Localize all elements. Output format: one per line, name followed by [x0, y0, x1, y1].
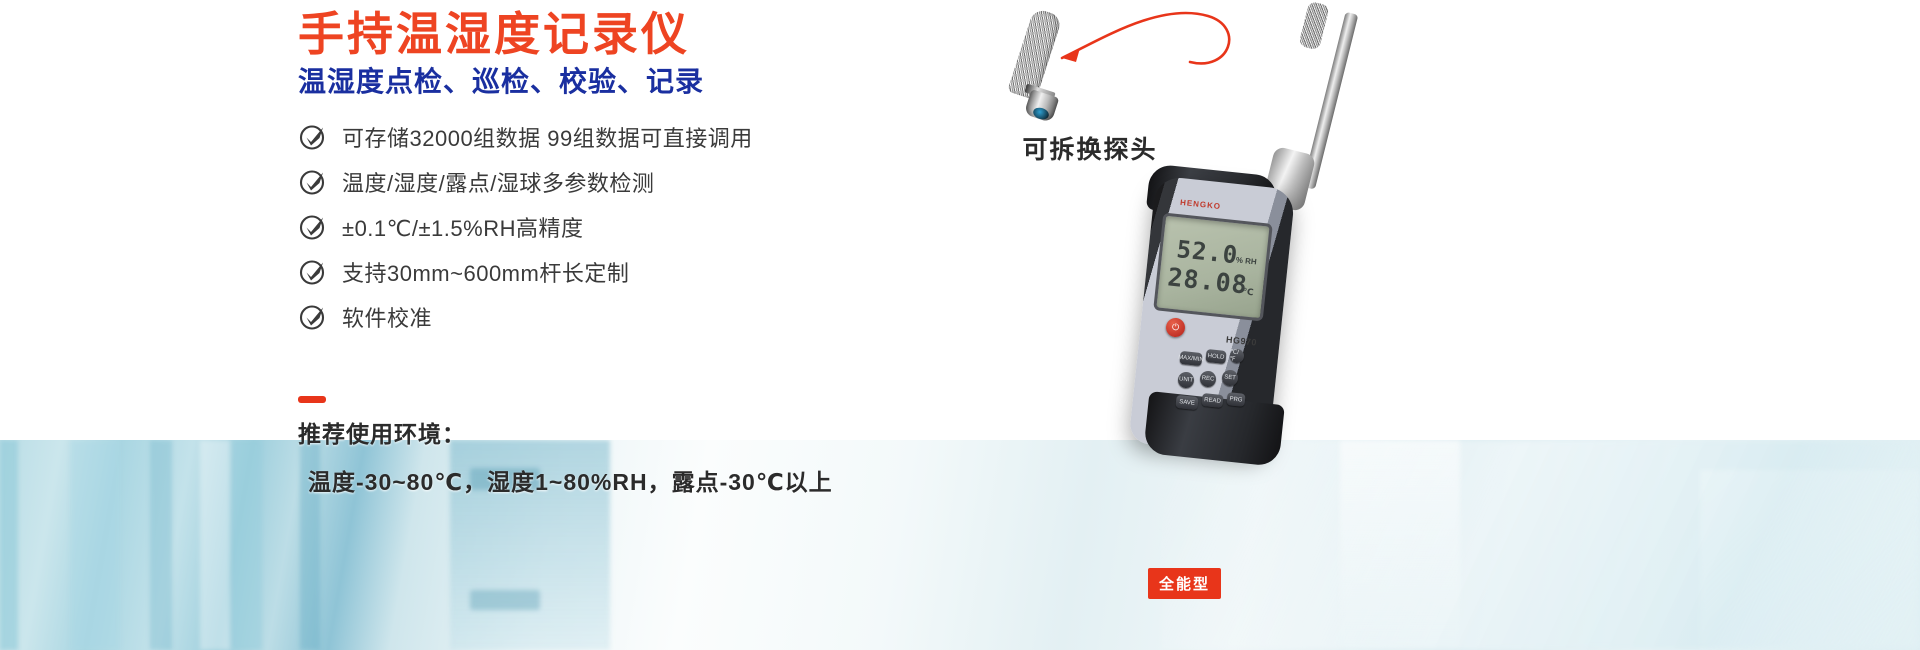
page-subtitle: 温湿度点检、巡检、校验、记录	[298, 65, 1018, 99]
feature-label: 可存储32000组数据 99组数据可直接调用	[342, 121, 753, 153]
feature-label: 温度/湿度/露点/湿球多参数检测	[342, 166, 654, 198]
lcd-screen: 52.0 % RH 28.08 ℃	[1153, 213, 1273, 322]
list-item: 软件校准	[298, 294, 1018, 339]
environment-text-block: 推荐使用环境： 温度-30~80℃，湿度1~80%RH，露点-30℃以上	[298, 415, 833, 497]
feature-label: ±0.1℃/±1.5%RH高精度	[342, 211, 583, 243]
red-dash-marker	[298, 396, 326, 403]
lcd-humidity-unit: % RH	[1235, 255, 1257, 266]
feature-list: 可存储32000组数据 99组数据可直接调用 温度/湿度/露点/湿球多参数检测	[298, 114, 1018, 339]
lcd-temperature-unit: ℃	[1242, 286, 1254, 298]
list-item: ±0.1℃/±1.5%RH高精度	[298, 204, 1018, 249]
product-banner: 手持温湿度记录仪 温湿度点检、巡检、校验、记录 可存储32000组数据 99组数…	[0, 0, 1920, 650]
device-key-hold[interactable]: HOLD	[1205, 349, 1226, 364]
environment-title: 推荐使用环境：	[298, 415, 833, 449]
circle-check-icon	[298, 212, 328, 242]
device-key-save[interactable]: SAVE	[1175, 395, 1198, 410]
device-key-read[interactable]: READ	[1201, 393, 1223, 408]
background-glass-pane	[1700, 470, 1920, 650]
circle-check-icon	[298, 167, 328, 197]
sensor-rod-tip	[1298, 1, 1330, 51]
handheld-meter-image: HENGKO 52.0 % RH 28.08 ℃ ⏻ HG970 MAX/MIN…	[1030, 0, 1410, 640]
background-glass-pane	[200, 440, 230, 650]
background-glass-pane	[470, 590, 540, 610]
page-title: 手持温湿度记录仪	[298, 8, 1018, 61]
list-item: 支持30mm~600mm杆长定制	[298, 249, 1018, 294]
device-key-unit-c-f[interactable]: ℃/℉	[1229, 348, 1244, 363]
list-item: 温度/湿度/露点/湿球多参数检测	[298, 159, 1018, 204]
circle-check-icon	[298, 122, 328, 152]
feature-label: 软件校准	[342, 301, 432, 333]
device-key-max-min[interactable]: MAX/MIN	[1179, 351, 1202, 366]
status-badge: 全能型	[1148, 568, 1221, 599]
feature-label: 支持30mm~600mm杆长定制	[342, 256, 629, 288]
headline-block: 手持温湿度记录仪 温湿度点检、巡检、校验、记录 可存储32000组数据 99组数…	[298, 8, 1018, 339]
circle-check-icon	[298, 257, 328, 287]
list-item: 可存储32000组数据 99组数据可直接调用	[298, 114, 1018, 159]
circle-check-icon	[298, 302, 328, 332]
device-key-prg[interactable]: PRG	[1226, 392, 1245, 407]
environment-spec-line: 温度-30~80℃，湿度1~80%RH，露点-30℃以上	[298, 463, 833, 497]
environment-background-strip	[0, 440, 1920, 650]
